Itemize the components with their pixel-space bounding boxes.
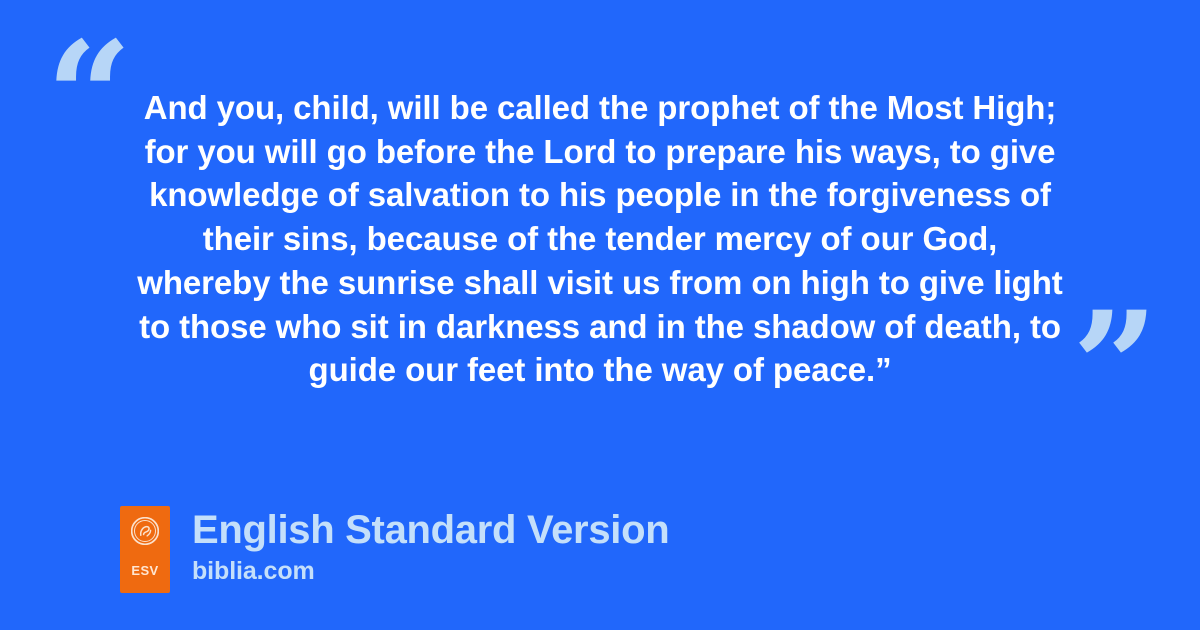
esv-seal-icon (131, 517, 159, 545)
verse-line: their sins, because of the tender mercy … (100, 217, 1100, 261)
site-url: biblia.com (192, 556, 669, 586)
brand-footer: ESV English Standard Version biblia.com (120, 506, 669, 593)
esv-logo-label: ESV (131, 563, 158, 578)
verse-image-card: “ ” And you, child, will be called the p… (0, 0, 1200, 630)
verse-line: knowledge of salvation to his people in … (100, 173, 1100, 217)
verse-line: to those who sit in darkness and in the … (100, 305, 1100, 349)
verse-line: And you, child, will be called the proph… (100, 86, 1100, 130)
esv-logo: ESV (120, 506, 170, 593)
verse-line: whereby the sunrise shall visit us from … (100, 261, 1100, 305)
verse-line: for you will go before the Lord to prepa… (100, 130, 1100, 174)
translation-name: English Standard Version (192, 508, 669, 553)
verse-text-block: And you, child, will be called the proph… (100, 86, 1100, 392)
brand-text-group: English Standard Version biblia.com (192, 506, 669, 586)
verse-line: guide our feet into the way of peace.” (100, 348, 1100, 392)
